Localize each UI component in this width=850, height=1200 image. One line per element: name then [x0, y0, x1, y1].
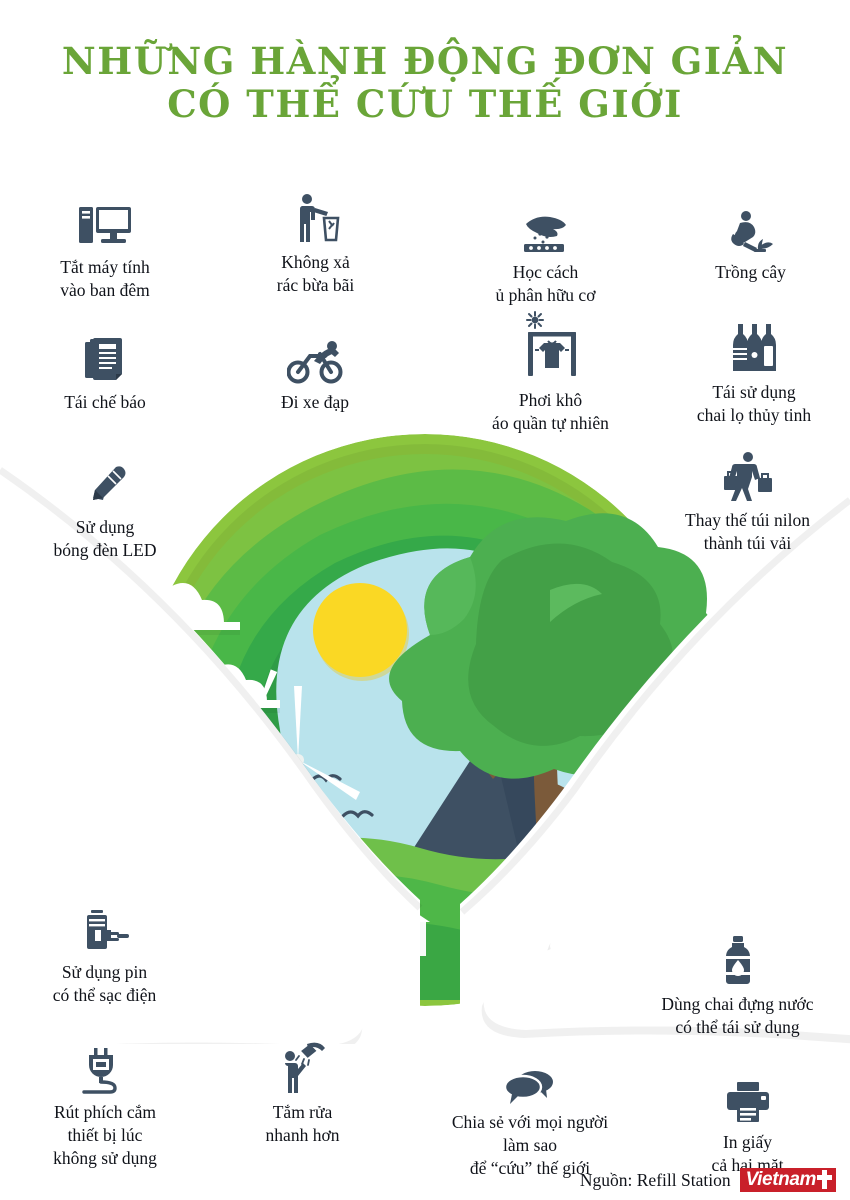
- item-use-rechargeable-batteries[interactable]: Sử dụng pin có thể sạc điện: [12, 900, 197, 1007]
- item-shower-faster[interactable]: Tắm rửa nhanh hơn: [215, 1040, 390, 1147]
- item-caption: Không xả rác bừa bãi: [228, 251, 403, 297]
- item-caption: Tắm rửa nhanh hơn: [215, 1101, 390, 1147]
- title-line-1: NHỮNG HÀNH ĐỘNG ĐƠN GIẢN: [0, 42, 850, 81]
- item-caption: Đi xe đạp: [235, 391, 395, 414]
- item-reuse-glass-bottles[interactable]: Tái sử dụng chai lọ thủy tinh: [668, 320, 840, 427]
- water-bottle-icon: [630, 932, 845, 986]
- item-caption: Phơi khô áo quần tự nhiên: [463, 389, 638, 435]
- item-caption: Trồng cây: [668, 261, 833, 284]
- item-caption: Học cách ủ phân hữu cơ: [458, 261, 633, 307]
- item-caption: Sử dụng bóng đèn LED: [20, 516, 190, 562]
- rechargeable-battery-icon: [12, 900, 197, 954]
- plus-cross-icon: [817, 1170, 832, 1189]
- newspaper-stack-icon: [20, 330, 190, 384]
- item-unplug-devices[interactable]: Rút phích cắm thiết bị lúc không sử dụng: [10, 1040, 200, 1169]
- page-title: NHỮNG HÀNH ĐỘNG ĐƠN GIẢN CÓ THỂ CỨU THẾ …: [0, 42, 850, 124]
- person-carrying-bags-icon: [650, 448, 845, 502]
- printer-icon: [660, 1070, 835, 1124]
- speech-bubbles-icon: [420, 1050, 640, 1104]
- desktop-computer-icon: [15, 195, 195, 249]
- glass-bottles-icon: [668, 320, 840, 374]
- item-caption: Dùng chai đựng nước có thể tái sử dụng: [630, 993, 845, 1039]
- item-recycle-newspaper[interactable]: Tái chế báo: [20, 330, 190, 414]
- infographic-poster: NHỮNG HÀNH ĐỘNG ĐƠN GIẢN CÓ THỂ CỨU THẾ …: [0, 0, 850, 1200]
- item-caption: Tắt máy tính vào ban đêm: [15, 256, 195, 302]
- hand-compost-icon: [458, 200, 633, 254]
- footer-source-row: Nguồn: Refill Station Vietnam: [580, 1168, 836, 1192]
- clothesline-sun-icon: [463, 310, 638, 382]
- item-print-both-sides[interactable]: In giấy cả hai mặt: [660, 1070, 835, 1177]
- item-turn-off-computer[interactable]: Tắt máy tính vào ban đêm: [15, 195, 195, 302]
- item-share-with-people[interactable]: Chia sẻ với mọi người làm sao để “cứu” t…: [420, 1050, 640, 1179]
- item-caption: Thay thế túi nilon thành túi vải: [650, 509, 845, 555]
- item-no-littering[interactable]: Không xả rác bừa bãi: [228, 190, 403, 297]
- unplugged-plug-icon: [10, 1040, 200, 1094]
- source-text: Nguồn: Refill Station: [580, 1170, 731, 1191]
- person-throwing-trash-icon: [228, 190, 403, 244]
- item-caption: Sử dụng pin có thể sạc điện: [12, 961, 197, 1007]
- vietnamplus-logo[interactable]: Vietnam: [740, 1168, 836, 1192]
- item-caption: Tái sử dụng chai lọ thủy tinh: [668, 381, 840, 427]
- led-bulb-pencil-icon: [20, 455, 190, 509]
- item-caption: Rút phích cắm thiết bị lúc không sử dụng: [10, 1101, 200, 1169]
- logo-text: Vietnam: [746, 1170, 816, 1189]
- item-reusable-water-bottle[interactable]: Dùng chai đựng nước có thể tái sử dụng: [630, 932, 845, 1039]
- item-replace-plastic-bags[interactable]: Thay thế túi nilon thành túi vải: [650, 448, 845, 555]
- item-plant-trees[interactable]: Trồng cây: [668, 200, 833, 284]
- item-caption: Tái chế báo: [20, 391, 190, 414]
- item-learn-composting[interactable]: Học cách ủ phân hữu cơ: [458, 200, 633, 307]
- person-showering-icon: [215, 1040, 390, 1094]
- cyclist-icon: [235, 330, 395, 384]
- item-air-dry-clothes[interactable]: Phơi khô áo quần tự nhiên: [463, 310, 638, 435]
- title-line-2: CÓ THỂ CỨU THẾ GIỚI: [0, 85, 850, 124]
- item-ride-bicycle[interactable]: Đi xe đạp: [235, 330, 395, 414]
- item-use-led-bulbs[interactable]: Sử dụng bóng đèn LED: [20, 455, 190, 562]
- person-planting-tree-icon: [668, 200, 833, 254]
